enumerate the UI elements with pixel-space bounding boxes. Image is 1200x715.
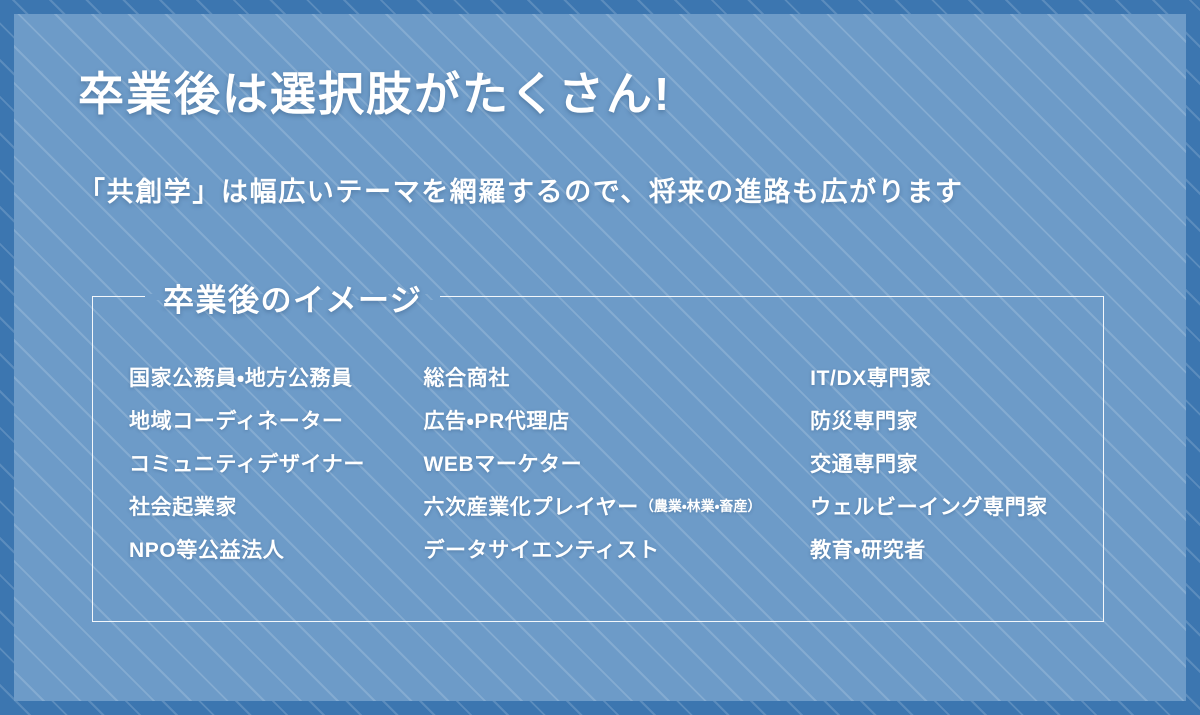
career-box-heading: 卒業後のイメージ <box>163 275 422 320</box>
career-item-label: 交通専門家 <box>810 448 918 478</box>
list-item: 地域コーディネーター <box>129 398 423 441</box>
career-item-label: 地域コーディネーター <box>129 405 344 435</box>
career-item-label: IT/DX専門家 <box>810 362 931 392</box>
career-item-label: 教育・研究者 <box>810 534 926 564</box>
career-item-label: 防災専門家 <box>810 405 918 435</box>
list-item: データサイエンティスト <box>423 527 810 570</box>
list-item: 国家公務員・地方公務員 <box>129 355 423 398</box>
career-item-label: データサイエンティスト <box>423 534 659 564</box>
career-item-label: 総合商社 <box>423 362 509 392</box>
list-item: NPO等公益法人 <box>129 527 423 570</box>
career-item-label: 広告・PR代理店 <box>423 405 569 435</box>
career-item-label: コミュニティデザイナー <box>129 448 365 478</box>
career-list: 国家公務員・地方公務員 地域コーディネーター コミュニティデザイナー 社会起業家… <box>129 355 1085 570</box>
career-item-label: 六次産業化プレイヤー <box>423 491 638 521</box>
list-item: 六次産業化プレイヤー（農業・林業・畜産） <box>423 484 810 527</box>
career-column-1: 国家公務員・地方公務員 地域コーディネーター コミュニティデザイナー 社会起業家… <box>129 355 423 570</box>
career-item-label: ウェルビーイング専門家 <box>810 491 1048 521</box>
career-item-label: 国家公務員・地方公務員 <box>129 362 353 392</box>
list-item: 防災専門家 <box>810 398 1085 441</box>
career-item-label: WEBマーケター <box>423 448 582 478</box>
list-item: 交通専門家 <box>810 441 1085 484</box>
page-subtitle: 「共創学」は幅広いテーマを網羅するので、将来の進路も広がります <box>78 170 964 209</box>
career-column-3: IT/DX専門家 防災専門家 交通専門家 ウェルビーイング専門家 教育・研究者 <box>810 355 1085 570</box>
slide-canvas: 卒業後は選択肢がたくさん! 「共創学」は幅広いテーマを網羅するので、将来の進路も… <box>0 0 1200 715</box>
list-item: 教育・研究者 <box>810 527 1085 570</box>
career-item-label: 社会起業家 <box>129 491 237 521</box>
career-item-note: （農業・林業・畜産） <box>640 496 762 516</box>
list-item: 広告・PR代理店 <box>423 398 810 441</box>
career-item-label: NPO等公益法人 <box>129 534 284 564</box>
page-title: 卒業後は選択肢がたくさん! <box>78 68 671 121</box>
list-item: ウェルビーイング専門家 <box>810 484 1085 527</box>
career-image-box: 卒業後のイメージ 国家公務員・地方公務員 地域コーディネーター コミュニティデザ… <box>92 296 1104 622</box>
list-item: 総合商社 <box>423 355 810 398</box>
list-item: IT/DX専門家 <box>810 355 1085 398</box>
slide-content: 卒業後は選択肢がたくさん! 「共創学」は幅広いテーマを網羅するので、将来の進路も… <box>0 0 1200 715</box>
list-item: 社会起業家 <box>129 484 423 527</box>
career-box-heading-wrap: 卒業後のイメージ <box>145 275 440 319</box>
list-item: WEBマーケター <box>423 441 810 484</box>
career-column-2: 総合商社 広告・PR代理店 WEBマーケター 六次産業化プレイヤー（農業・林業・… <box>423 355 810 570</box>
list-item: コミュニティデザイナー <box>129 441 423 484</box>
